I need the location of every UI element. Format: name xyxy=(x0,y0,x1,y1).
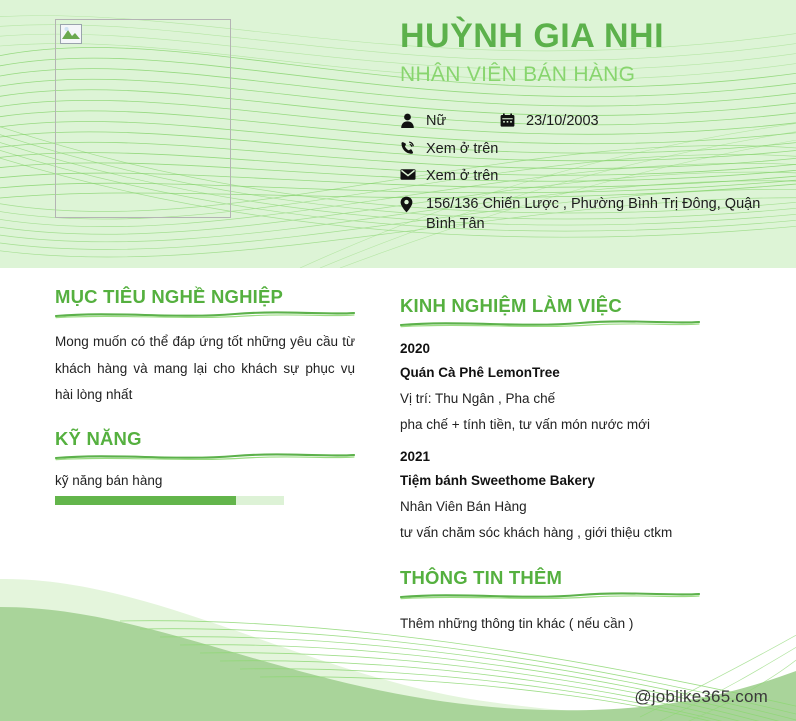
heading-underline xyxy=(400,318,700,330)
experience-role: Nhân Viên Bán Hàng xyxy=(400,494,740,520)
experience-year: 2021 xyxy=(400,447,740,468)
contact-phone-text: Xem ở trên xyxy=(426,139,498,160)
contact-row-phone: Xem ở trên xyxy=(400,139,780,160)
experience-organization: Tiệm bánh Sweethome Bakery xyxy=(400,468,740,494)
section-heading-additional: THÔNG TIN THÊM xyxy=(400,567,740,588)
additional-info-text: Thêm những thông tin khác ( nếu cần ) xyxy=(400,611,740,637)
section-additional-info: THÔNG TIN THÊM Thêm những thông tin khác… xyxy=(400,567,740,637)
section-objective: MỤC TIÊU NGHỀ NGHIỆP Mong muốn có thể đá… xyxy=(55,286,355,408)
experience-role: Vị trí: Thu Ngân , Pha chế xyxy=(400,386,740,412)
skill-bar-track xyxy=(55,496,284,505)
contact-gender-text: Nữ xyxy=(426,111,446,132)
job-title: NHÂN VIÊN BÁN HÀNG xyxy=(400,62,780,87)
objective-text: Mong muốn có thể đáp ứng tốt những yêu c… xyxy=(55,329,355,408)
section-heading-skills: KỸ NĂNG xyxy=(55,428,355,449)
contact-row-address: 156/136 Chiến Lược , Phường Bình Trị Đôn… xyxy=(400,194,780,235)
email-icon xyxy=(400,166,426,181)
person-icon xyxy=(400,111,426,129)
heading-underline xyxy=(55,309,355,321)
contact-email-text: Xem ở trên xyxy=(426,166,498,187)
header-band: HUỲNH GIA NHI NHÂN VIÊN BÁN HÀNG Nữ xyxy=(0,0,796,268)
experience-description: pha chế + tính tiền, tư vấn món nước mới xyxy=(400,412,740,438)
contact-dob-text: 23/10/2003 xyxy=(526,111,599,132)
right-column: KINH NGHIỆM LÀM VIỆC 2020 Quán Cà Phê Le… xyxy=(400,295,740,650)
phone-icon xyxy=(400,139,426,157)
experience-item: 2020 Quán Cà Phê LemonTree Vị trí: Thu N… xyxy=(400,339,740,438)
contact-address-text: 156/136 Chiến Lược , Phường Bình Trị Đôn… xyxy=(426,194,780,235)
cv-page: HUỲNH GIA NHI NHÂN VIÊN BÁN HÀNG Nữ xyxy=(0,0,796,721)
section-heading-objective: MỤC TIÊU NGHỀ NGHIỆP xyxy=(55,286,355,307)
heading-underline xyxy=(400,590,700,602)
experience-organization: Quán Cà Phê LemonTree xyxy=(400,360,740,386)
contact-row-email: Xem ở trên xyxy=(400,166,780,187)
skill-item: kỹ năng bán hàng xyxy=(55,472,355,505)
contact-list: Nữ 23/10/2003 xyxy=(400,111,780,242)
left-column: MỤC TIÊU NGHỀ NGHIỆP Mong muốn có thể đá… xyxy=(55,286,355,505)
page-title: HUỲNH GIA NHI xyxy=(400,16,780,56)
skill-label: kỹ năng bán hàng xyxy=(55,472,355,490)
experience-year: 2020 xyxy=(400,339,740,360)
contact-row-gender-dob: Nữ 23/10/2003 xyxy=(400,111,780,132)
experience-description: tư vấn chăm sóc khách hàng , giới thiệu … xyxy=(400,520,740,546)
calendar-icon xyxy=(500,111,526,128)
section-experience: KINH NGHIỆM LÀM VIỆC 2020 Quán Cà Phê Le… xyxy=(400,295,740,547)
contact-dob: 23/10/2003 xyxy=(500,111,599,132)
section-gap xyxy=(400,547,740,567)
section-gap xyxy=(55,408,355,428)
broken-image-icon xyxy=(60,24,82,44)
section-heading-experience: KINH NGHIỆM LÀM VIỆC xyxy=(400,295,740,316)
location-icon xyxy=(400,194,426,213)
heading-underline xyxy=(55,451,355,463)
skill-bar-fill xyxy=(55,496,236,505)
experience-item: 2021 Tiệm bánh Sweethome Bakery Nhân Viê… xyxy=(400,447,740,546)
section-skills: KỸ NĂNG kỹ năng bán hàng xyxy=(55,428,355,505)
contact-gender: Nữ xyxy=(400,111,500,132)
avatar xyxy=(55,19,231,218)
header-identity: HUỲNH GIA NHI NHÂN VIÊN BÁN HÀNG xyxy=(400,16,780,87)
watermark: @joblike365.com xyxy=(634,687,768,707)
